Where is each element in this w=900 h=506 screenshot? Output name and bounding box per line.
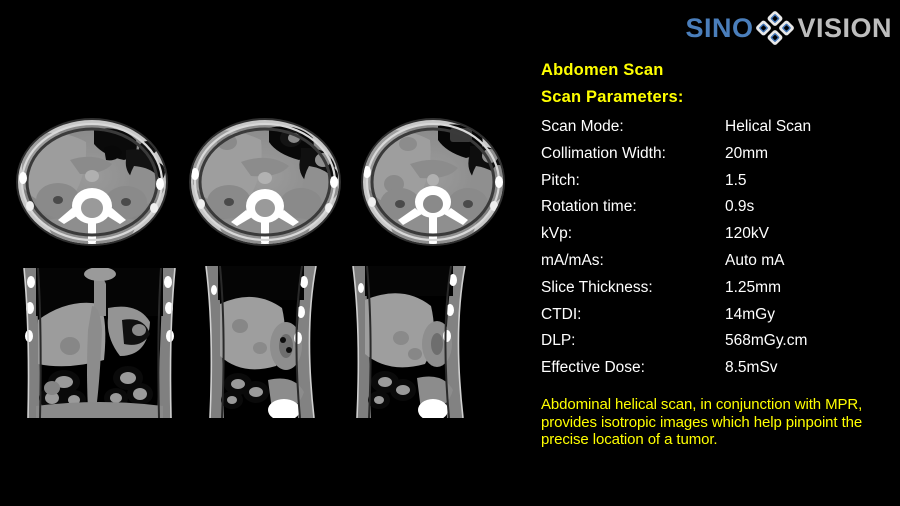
table-row: kVp: 120kV [541, 226, 896, 253]
param-value: 1.5 [725, 173, 896, 200]
param-value: 20mm [725, 146, 896, 173]
param-value: 120kV [725, 226, 896, 253]
table-row: Scan Mode: Helical Scan [541, 119, 896, 146]
axial-slice-1[interactable] [8, 108, 176, 253]
page-title: Abdomen Scan [541, 62, 896, 79]
sagittal-reformat-3[interactable] [345, 260, 482, 418]
axial-slice-2[interactable] [181, 108, 349, 253]
scan-image-grid: H H H [0, 103, 515, 418]
param-label: Collimation Width: [541, 146, 725, 173]
table-row: CTDI: 14mGy [541, 307, 896, 334]
param-value: 14mGy [725, 307, 896, 334]
table-row: DLP: 568mGy.cm [541, 333, 896, 360]
coronal-reformat-1[interactable] [8, 260, 191, 418]
table-row: Pitch: 1.5 [541, 173, 896, 200]
param-value: 568mGy.cm [725, 333, 896, 360]
table-row: Collimation Width: 20mm [541, 146, 896, 173]
param-label: mA/mAs: [541, 253, 725, 280]
scan-info-panel: Abdomen Scan Scan Parameters: Scan Mode:… [541, 62, 896, 449]
param-value: 8.5mSv [725, 360, 896, 387]
sinovision-logo: SINO [685, 10, 892, 46]
param-value: 1.25mm [725, 280, 896, 307]
four-diamond-cluster-icon [754, 11, 796, 45]
param-label: Rotation time: [541, 199, 725, 226]
param-label: kVp: [541, 226, 725, 253]
table-row: Rotation time: 0.9s [541, 199, 896, 226]
table-row: mA/mAs: Auto mA [541, 253, 896, 280]
param-label: Slice Thickness: [541, 280, 725, 307]
param-value: Helical Scan [725, 119, 896, 146]
sagittal-reformat-2[interactable] [198, 260, 335, 418]
param-value: Auto mA [725, 253, 896, 280]
param-label: DLP: [541, 333, 725, 360]
param-label: CTDI: [541, 307, 725, 334]
table-row: Effective Dose: 8.5mSv [541, 360, 896, 387]
param-value: 0.9s [725, 199, 896, 226]
slide-canvas: SINO [0, 0, 900, 506]
table-row: Slice Thickness: 1.25mm [541, 280, 896, 307]
scan-parameters-heading: Scan Parameters: [541, 89, 896, 106]
logo-text-sino: SINO [685, 15, 753, 42]
param-label: Pitch: [541, 173, 725, 200]
logo-text-vision: VISION [797, 15, 892, 42]
param-label: Scan Mode: [541, 119, 725, 146]
param-label: Effective Dose: [541, 360, 725, 387]
scan-parameters-table: Scan Mode: Helical Scan Collimation Widt… [541, 119, 896, 387]
axial-slice-3[interactable] [354, 108, 512, 253]
scan-description-caption: Abdominal helical scan, in conjunction w… [541, 396, 896, 449]
